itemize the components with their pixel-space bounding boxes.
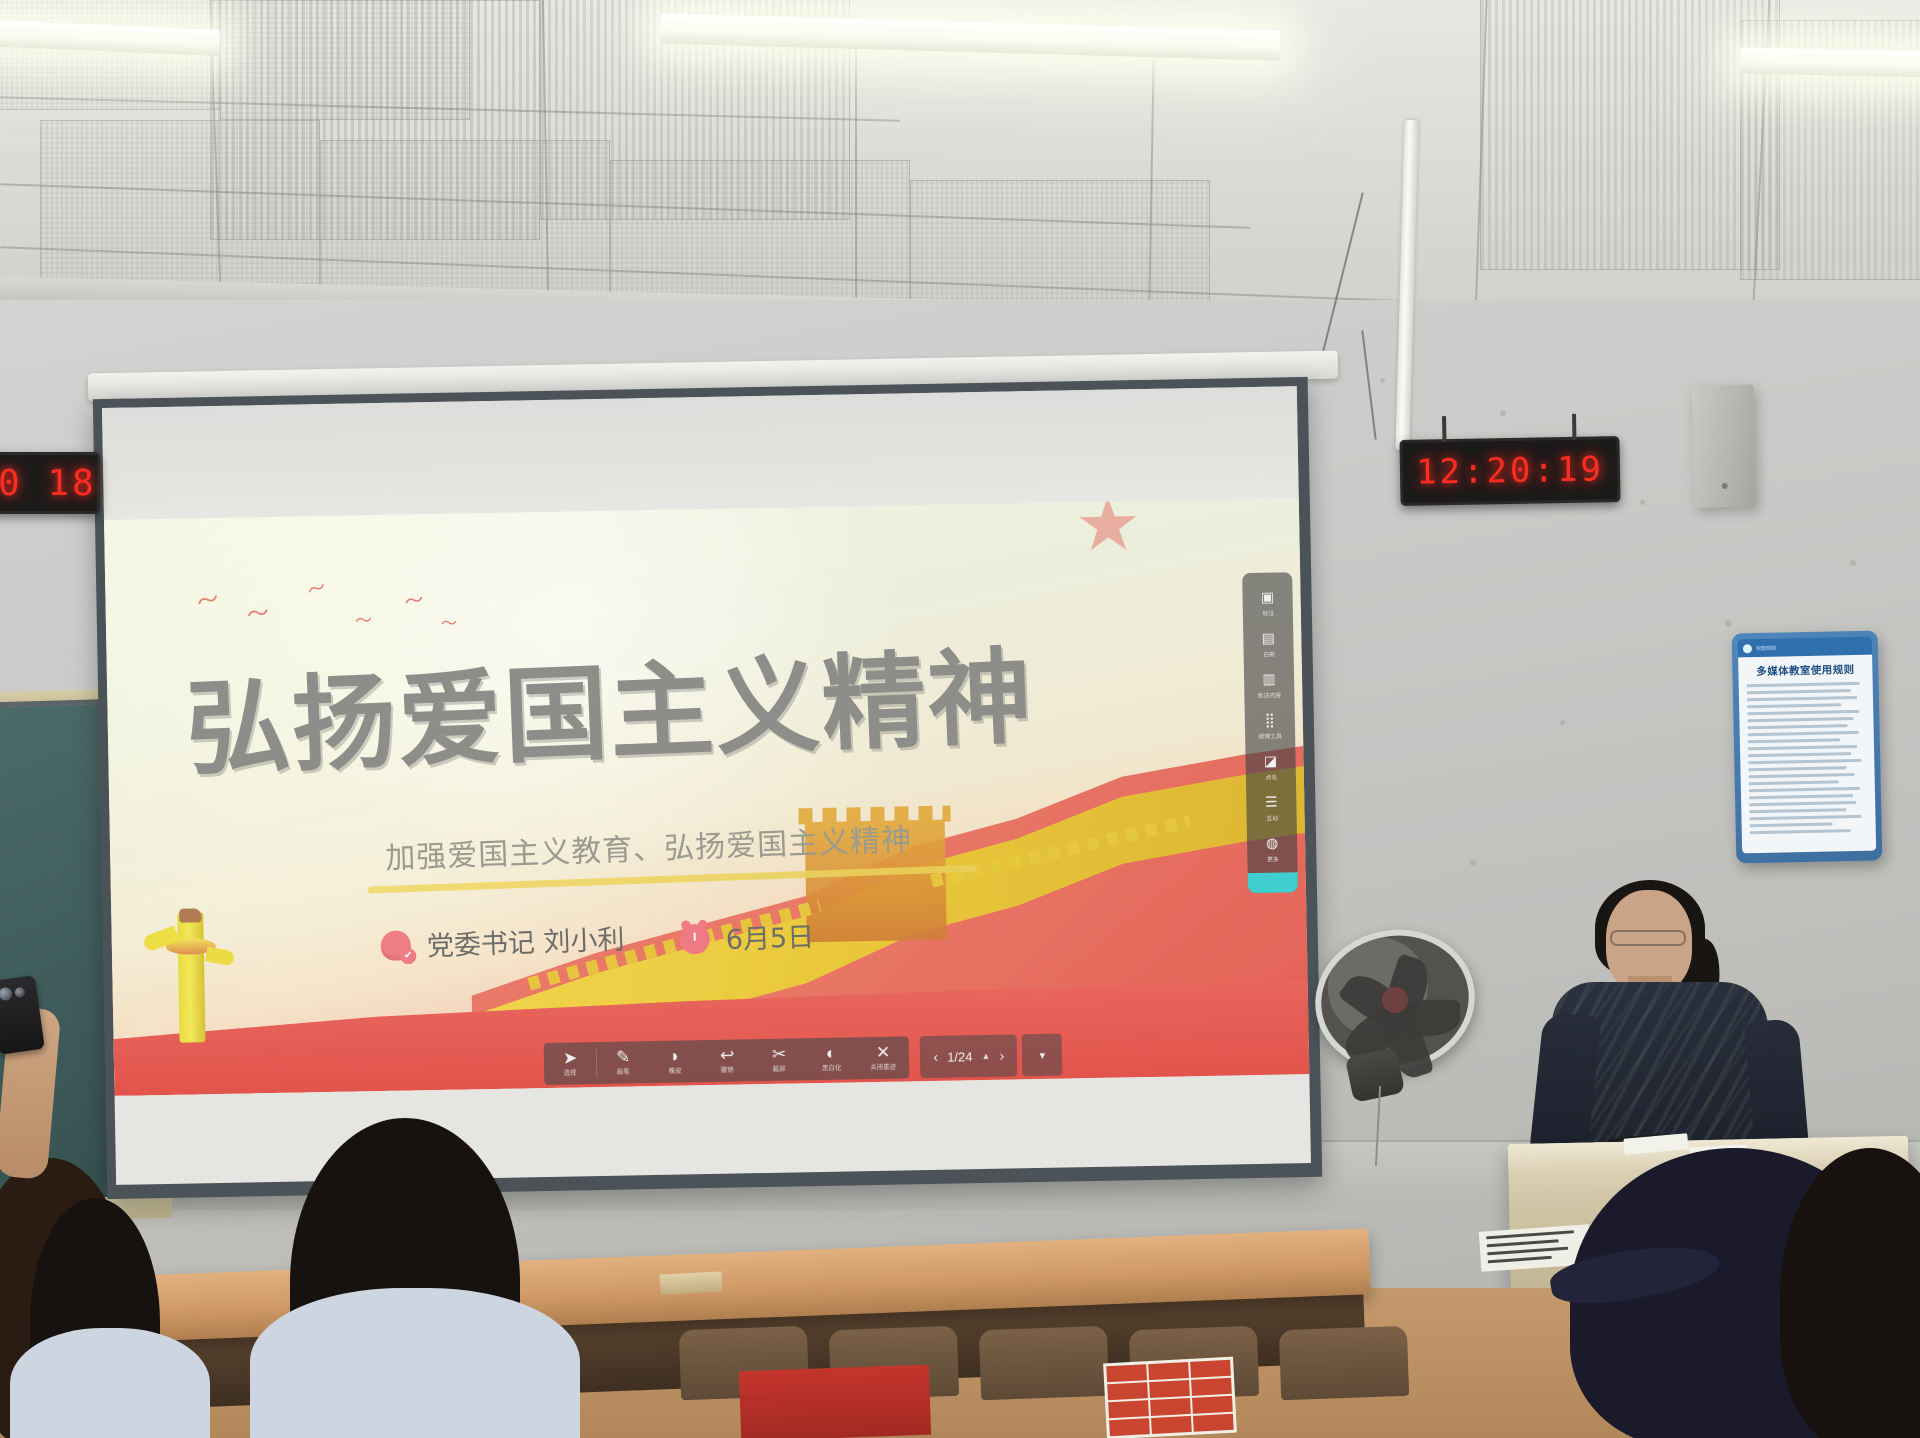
toolbar-screenshot-button[interactable]: ✂ 截屏 (753, 1038, 806, 1081)
classroom-rules-sign: 校园规则 多媒体教室使用规则 (1732, 630, 1883, 863)
sidebar-more-label: 更多 (1266, 855, 1278, 864)
sidebar-comment-label: 批注内容 (1258, 690, 1282, 699)
toolbar-undo-button[interactable]: ↩ 撤销 (701, 1039, 754, 1082)
teaching-tools-icon: ⣿ (1260, 711, 1280, 729)
presenter-glasses (1610, 930, 1686, 946)
wall-speaker (1692, 384, 1756, 507)
toolbar-close-ink-label: 关闭墨迹 (870, 1062, 896, 1072)
sidebar-annotate-label: 标注 (1262, 609, 1274, 618)
led-display-left-text: 20 18 (0, 463, 97, 504)
slide-date-label: 6月5日 (725, 915, 815, 957)
sidebar-interaction-label: 互动 (1266, 814, 1278, 823)
sidebar-whiteboard-label: 白板 (1263, 650, 1275, 659)
interaction-icon: ☰ (1261, 793, 1281, 811)
grayscale-icon: ◐ (826, 1045, 837, 1062)
camera-lens-icon (0, 987, 13, 1002)
slide-speaker-item: 党委书记 刘小利 (380, 917, 625, 965)
cursor-select-icon: ➤ (563, 1049, 578, 1066)
comment-icon: ▥ (1259, 670, 1279, 688)
sidebar-accent-bar[interactable] (1248, 873, 1298, 894)
toolbar-screenshot-label: 截屏 (773, 1064, 786, 1073)
ppt-pager-group[interactable]: ‹ 1/24 ▲ › ▾ (916, 1034, 1063, 1079)
toolbar-undo-label: 撤销 (721, 1065, 734, 1074)
led-display-left: 20 18 (0, 452, 100, 514)
close-icon: ✕ (876, 1044, 891, 1061)
sidebar-roll-call-label: 点名 (1265, 773, 1277, 782)
projection-screen[interactable]: 〜 〜 〜 〜 〜 〜 (93, 377, 1322, 1199)
presentation-slide[interactable]: 〜 〜 〜 〜 〜 〜 (104, 498, 1309, 1096)
undo-icon: ↩ (720, 1047, 735, 1064)
sidebar-annotate-button[interactable]: ▣ 标注 (1242, 582, 1293, 624)
audience-shoulders (10, 1328, 210, 1438)
sidebar-teaching-tools-button[interactable]: ⣿ 授课工具 (1245, 705, 1296, 747)
sidebar-comment-button[interactable]: ▥ 批注内容 (1244, 664, 1295, 706)
camera-lens-icon (14, 987, 25, 998)
chair (1279, 1326, 1409, 1400)
more-icon: ◍ (1262, 834, 1282, 852)
smartphone (0, 975, 45, 1055)
slide-speaker-label: 党委书记 刘小利 (426, 917, 625, 963)
roll-call-icon: ◪ (1260, 752, 1280, 770)
sidebar-interaction-button[interactable]: ☰ 互动 (1246, 787, 1297, 829)
classroom-scene: 〜 〜 〜 〜 〜 〜 (0, 0, 1920, 1438)
toolbar-eraser-label: 橡皮 (669, 1066, 682, 1075)
person-check-icon (380, 930, 411, 961)
toolbar-pen-label: 画笔 (617, 1067, 630, 1076)
audience-hand-with-phone (0, 978, 64, 1178)
sidebar-roll-call-button[interactable]: ◪ 点名 (1245, 746, 1296, 788)
screen-blank-area (102, 386, 1299, 520)
toolbar-grayscale-label: 黑白化 (822, 1063, 841, 1073)
annotate-icon: ▣ (1257, 588, 1277, 606)
ppt-side-toolbar[interactable]: ▣ 标注 ▤ 白板 ▥ 批注内容 ⣿ 授课工具 ◪ 点名 (1242, 573, 1298, 894)
slide-list-caret-icon[interactable]: ▲ (981, 1051, 990, 1061)
whiteboard-icon: ▤ (1258, 629, 1278, 647)
toolbar-pen-button[interactable]: ✎ 画笔 (597, 1041, 650, 1084)
toolbar-select-button[interactable]: ➤ 选择 (544, 1042, 597, 1085)
toolbar-more-button[interactable]: ▾ (1022, 1034, 1063, 1077)
ppt-annotation-toolbar[interactable]: ➤ 选择 ✎ 画笔 ◗ 橡皮 ↩ 撤销 (544, 1036, 910, 1085)
alarm-clock-icon (679, 923, 710, 954)
school-logo-icon (1743, 644, 1752, 653)
sidebar-whiteboard-button[interactable]: ▤ 白板 (1243, 623, 1294, 665)
wall-mounted-fan (1315, 930, 1475, 1070)
rules-sign-title: 多媒体教室使用规则 (1746, 662, 1864, 679)
pen-icon: ✎ (616, 1048, 631, 1065)
slide-page-indicator: 1/24 (947, 1049, 973, 1064)
rules-sign-body: 多媒体教室使用规则 (1738, 655, 1876, 854)
sidebar-more-button[interactable]: ◍ 更多 (1247, 828, 1298, 870)
toolbar-grayscale-button[interactable]: ◐ 黑白化 (805, 1037, 858, 1080)
sidebar-teaching-tools-label: 授课工具 (1258, 731, 1282, 740)
ceiling (0, 0, 1920, 330)
ppt-pager[interactable]: ‹ 1/24 ▲ › (920, 1034, 1018, 1078)
rules-header-text: 校园规则 (1756, 644, 1776, 651)
audience-shoulders (250, 1288, 580, 1438)
led-clock-time: 12:20:19 (1416, 449, 1604, 492)
toolbar-close-ink-button[interactable]: ✕ 关闭墨迹 (857, 1036, 910, 1079)
led-clock-right: 12:20:19 (1399, 436, 1620, 506)
toolbar-select-label: 选择 (564, 1068, 577, 1077)
scissors-icon: ✂ (772, 1046, 787, 1063)
toolbar-eraser-button[interactable]: ◗ 橡皮 (649, 1040, 702, 1083)
eraser-icon: ◗ (670, 1048, 681, 1065)
red-floor-mat (739, 1365, 931, 1438)
desk-book (660, 1271, 723, 1294)
floor-paper-grid (1103, 1357, 1237, 1438)
prev-slide-button[interactable]: ‹ (933, 1048, 938, 1065)
next-slide-button[interactable]: › (999, 1047, 1004, 1064)
chair (979, 1326, 1109, 1400)
slide-date-item: 6月5日 (679, 915, 815, 959)
